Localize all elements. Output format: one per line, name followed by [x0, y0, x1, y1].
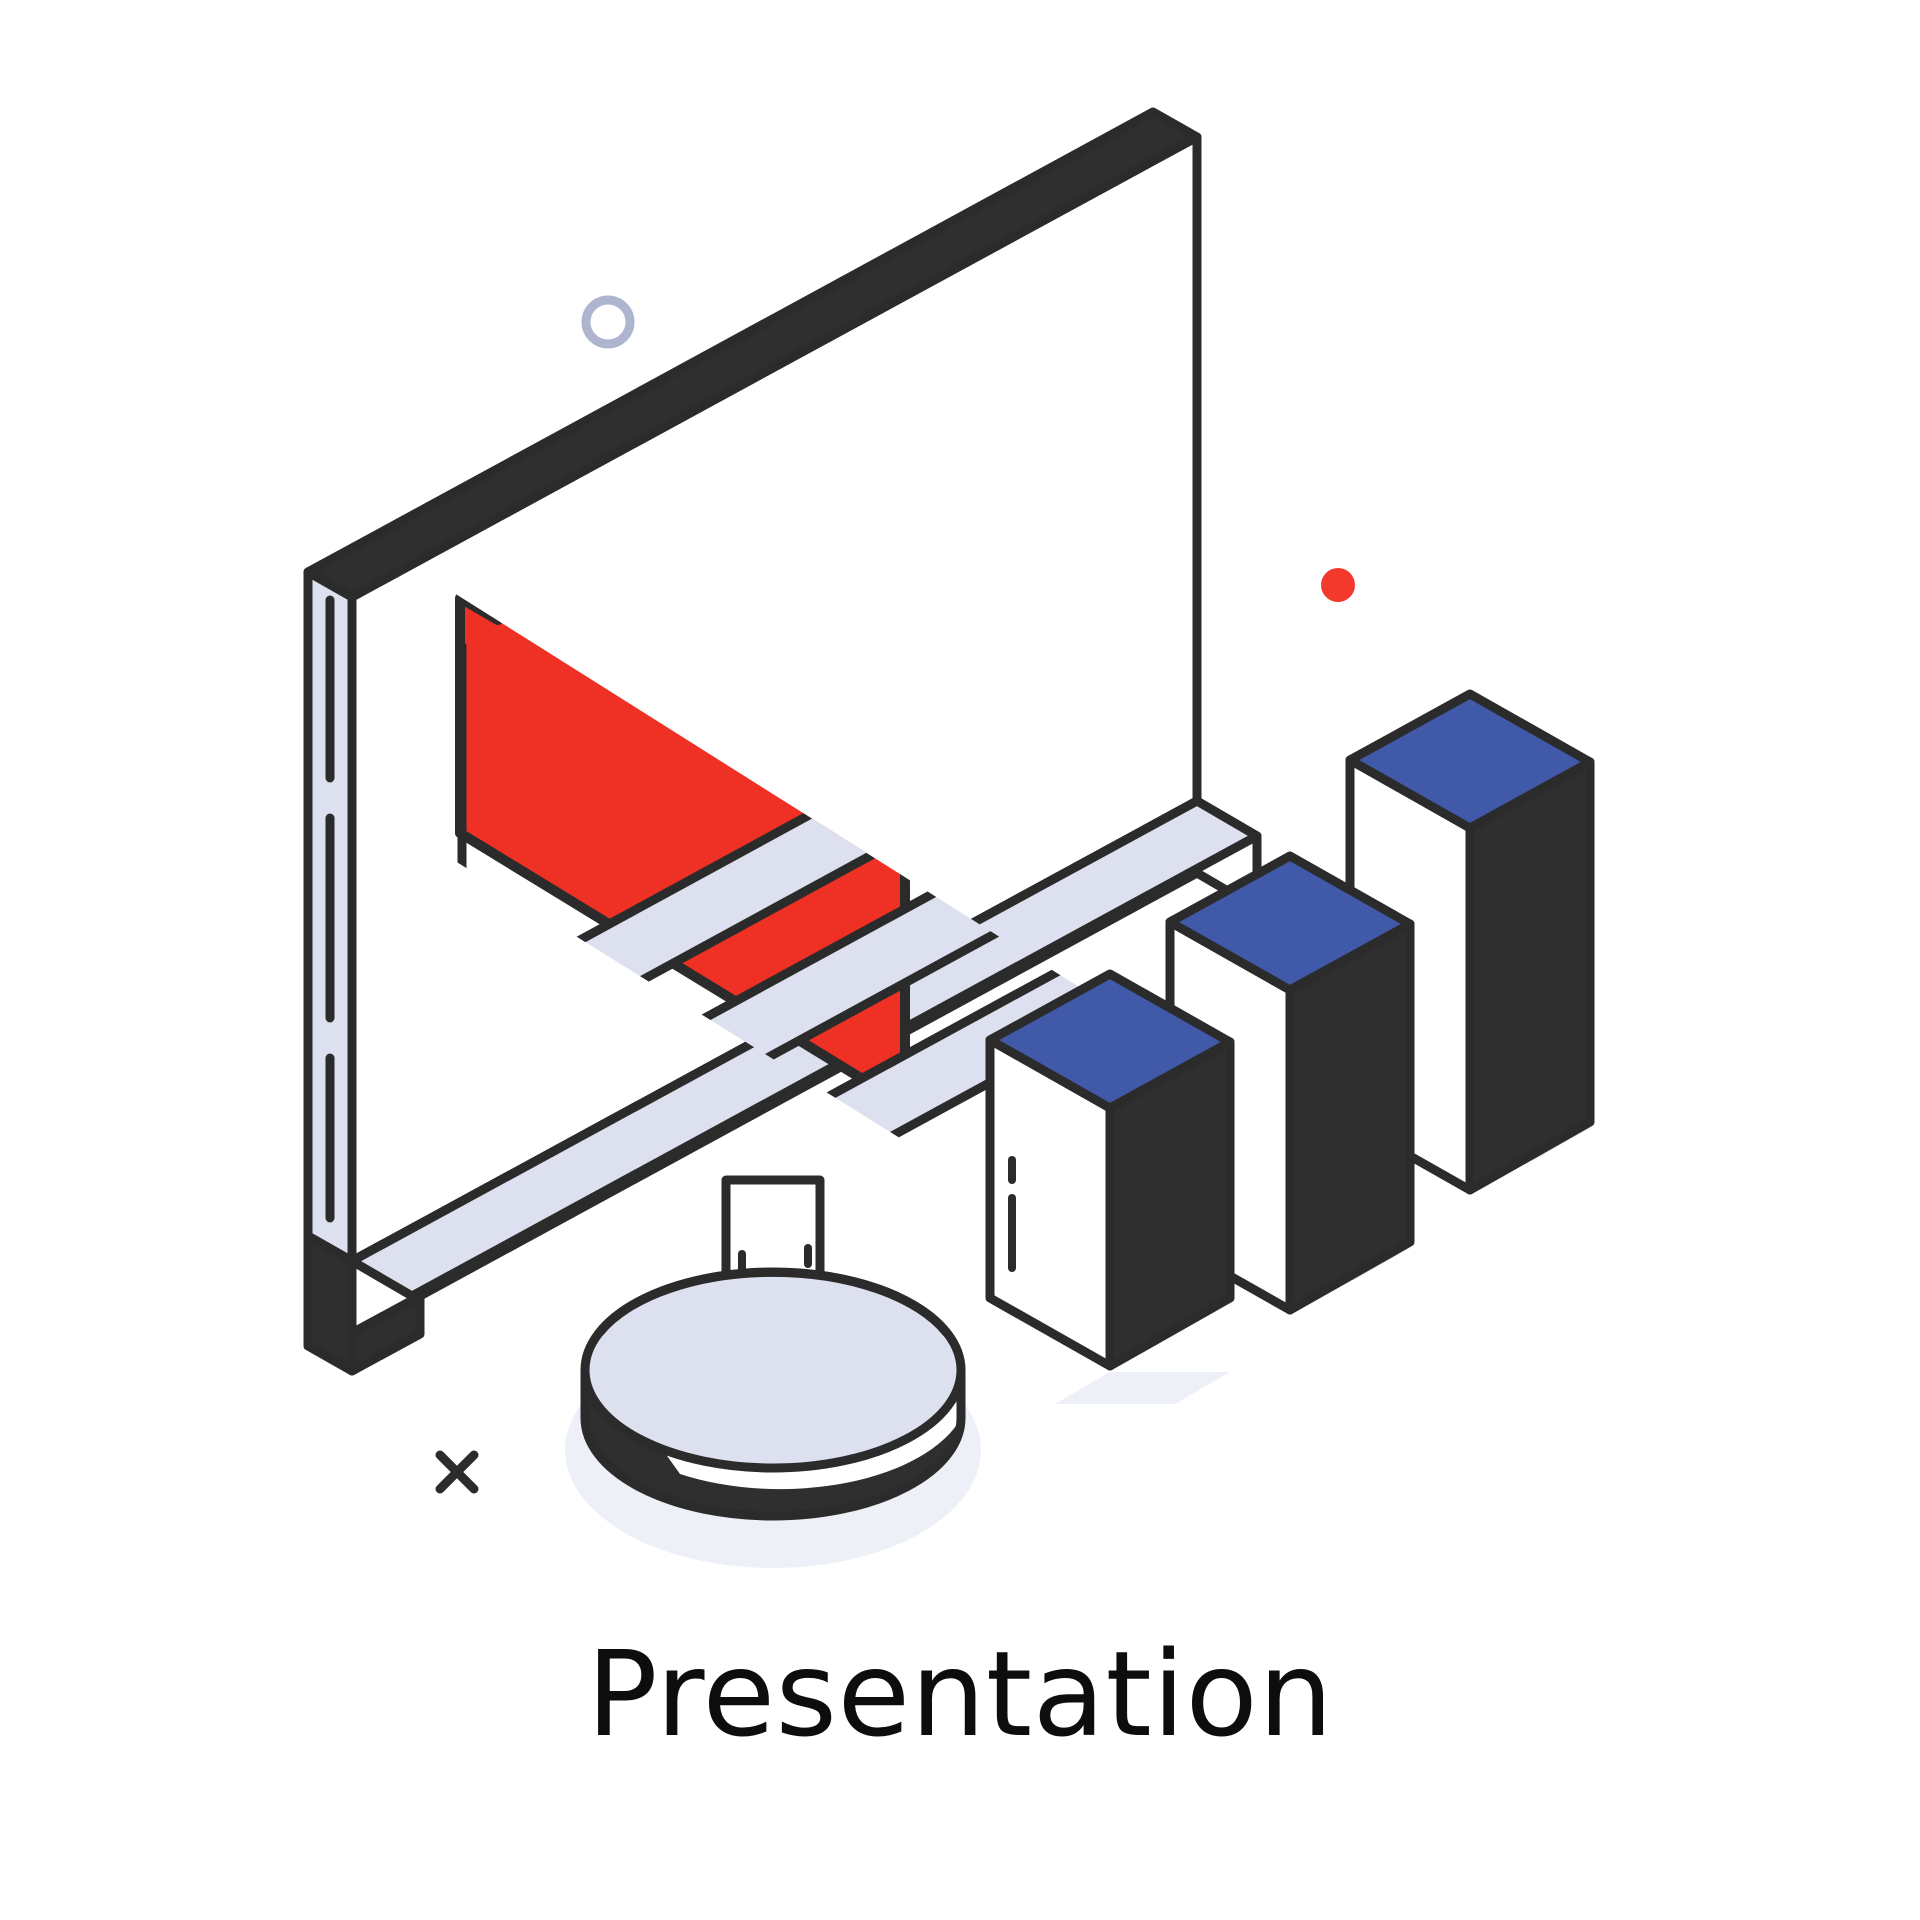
page-title: Presentation — [0, 1630, 1920, 1760]
accent-cross-icon — [440, 1455, 474, 1489]
bar1-shadow — [1055, 1372, 1230, 1404]
accent-ring-icon — [586, 300, 630, 344]
illustration-stage: Presentation — [0, 0, 1920, 1920]
bar-item-1 — [990, 974, 1230, 1366]
monitor-frame-left — [308, 572, 352, 1261]
monitor-base — [585, 1272, 961, 1516]
bar3-right-face — [1470, 762, 1590, 1190]
foot-left-face — [308, 1236, 352, 1371]
accent-dot-icon — [1321, 568, 1355, 602]
